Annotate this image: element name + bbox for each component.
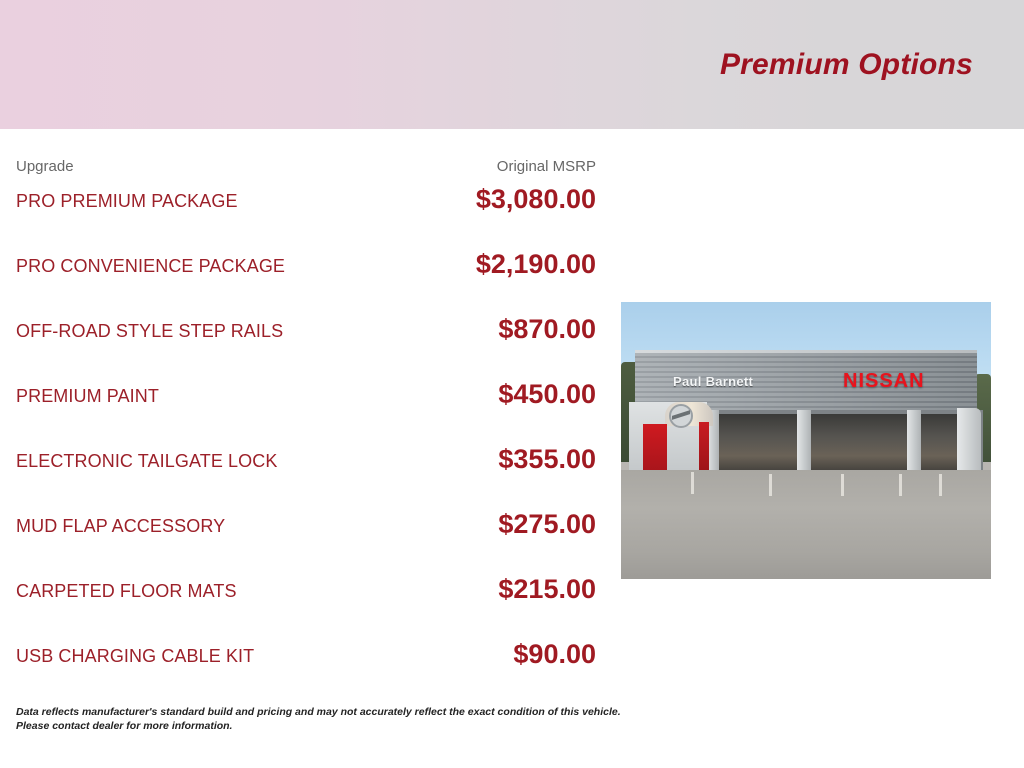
photo-column <box>797 410 811 472</box>
table-row: PREMIUM PAINT $450.00 <box>0 368 620 433</box>
photo-parking-stripe <box>899 474 902 496</box>
photo-red-accent-stripe <box>699 422 709 472</box>
option-price: $90.00 <box>0 639 596 670</box>
dealership-photo: Paul Barnett NISSAN <box>621 302 991 579</box>
photo-showroom-glass <box>809 414 909 470</box>
option-price: $275.00 <box>0 509 596 540</box>
brand-name-sign: NISSAN <box>843 370 925 393</box>
disclaimer-line-1: Data reflects manufacturer's standard bu… <box>16 705 616 719</box>
dealer-name-sign: Paul Barnett <box>673 374 753 389</box>
table-row: PRO CONVENIENCE PACKAGE $2,190.00 <box>0 238 620 303</box>
photo-parking-stripe <box>691 472 694 494</box>
photo-parking-stripe <box>769 474 772 496</box>
option-price: $355.00 <box>0 444 596 475</box>
photo-parking-stripe <box>939 474 942 496</box>
table-row: ELECTRONIC TAILGATE LOCK $355.00 <box>0 433 620 498</box>
table-row: OFF-ROAD STYLE STEP RAILS $870.00 <box>0 303 620 368</box>
table-row: PRO PREMIUM PACKAGE $3,080.00 <box>0 173 620 238</box>
photo-parking-stripe <box>841 474 844 496</box>
disclaimer-line-2: Please contact dealer for more informati… <box>16 719 616 733</box>
page-title: Premium Options <box>720 48 973 82</box>
option-price: $2,190.00 <box>0 249 596 280</box>
table-header-row: Upgrade Original MSRP <box>0 129 620 173</box>
option-price: $450.00 <box>0 379 596 410</box>
premium-options-table: Upgrade Original MSRP PRO PREMIUM PACKAG… <box>0 129 620 693</box>
photo-column <box>907 410 921 472</box>
disclaimer-text: Data reflects manufacturer's standard bu… <box>16 705 616 733</box>
photo-parking-lot <box>621 470 991 579</box>
photo-end-pillar <box>957 408 981 472</box>
option-price: $215.00 <box>0 574 596 605</box>
table-row: MUD FLAP ACCESSORY $275.00 <box>0 498 620 563</box>
photo-red-door <box>643 424 667 472</box>
nissan-logo-icon <box>669 404 693 428</box>
photo-showroom-glass <box>717 414 797 470</box>
option-price: $3,080.00 <box>0 184 596 215</box>
header-band: Premium Options <box>0 0 1024 129</box>
table-row: USB CHARGING CABLE KIT $90.00 <box>0 628 620 693</box>
option-price: $870.00 <box>0 314 596 345</box>
table-row: CARPETED FLOOR MATS $215.00 <box>0 563 620 628</box>
